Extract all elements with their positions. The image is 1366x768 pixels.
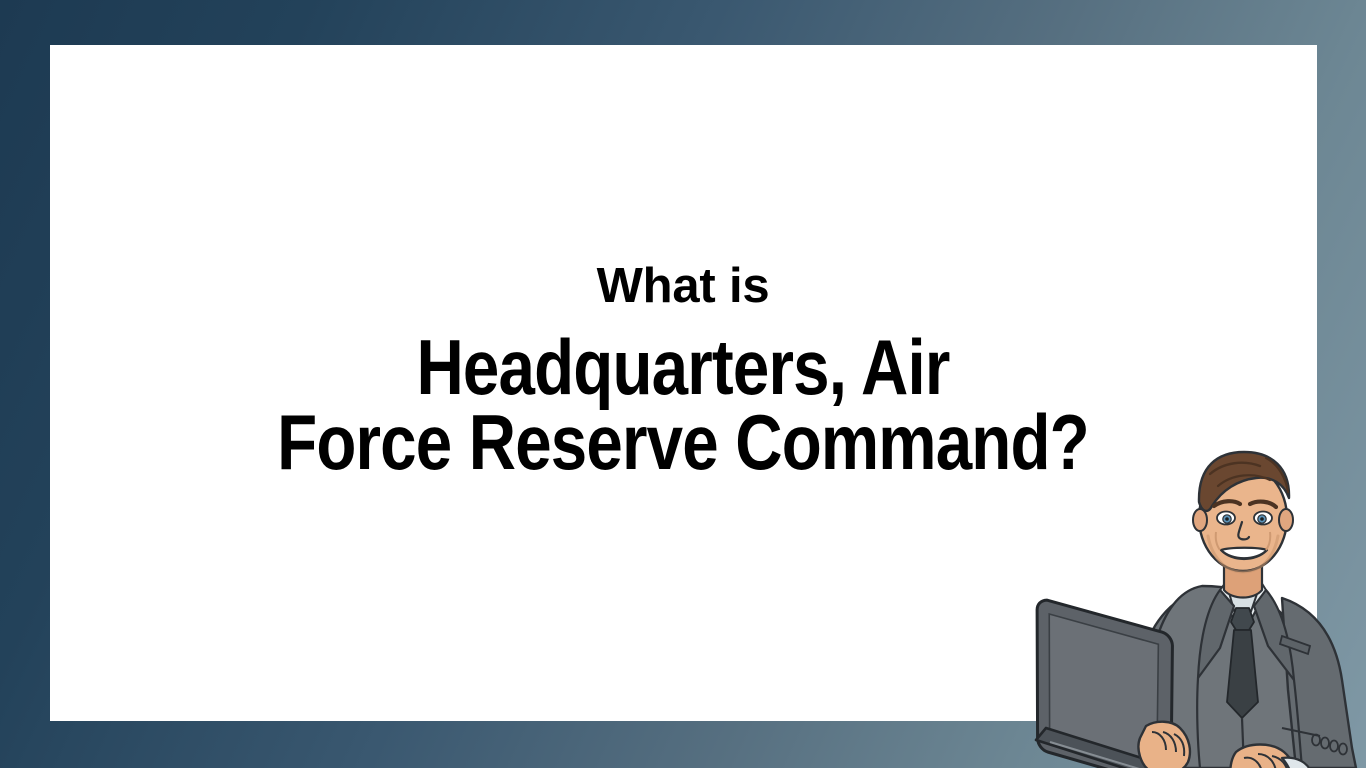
businessman-illustration [1020, 440, 1366, 768]
slide-canvas: What is Headquarters, Air Force Reserve … [0, 0, 1366, 768]
